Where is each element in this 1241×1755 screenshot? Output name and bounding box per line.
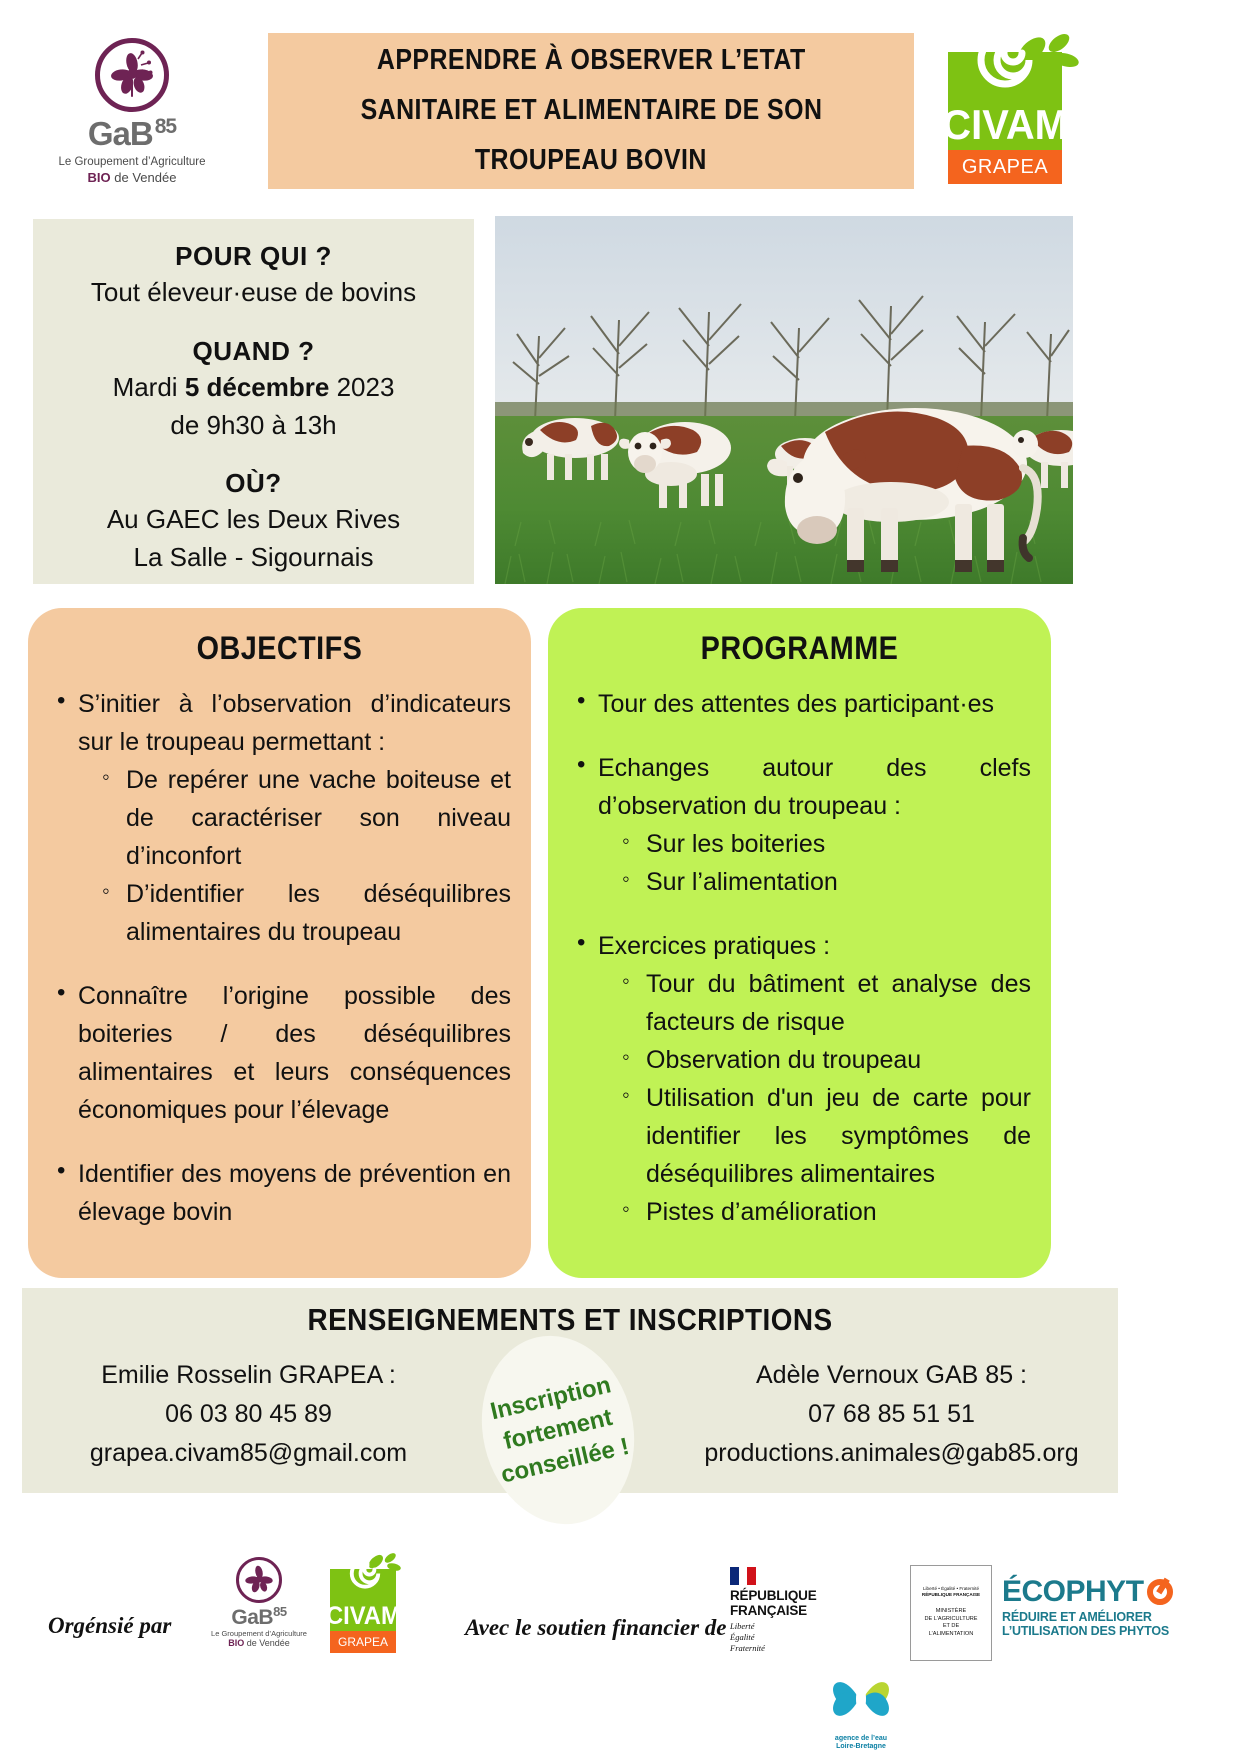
ecophyto-top: ÉCOPHYT <box>1002 1577 1182 1607</box>
ou-line-2: La Salle - Sigournais <box>51 541 456 575</box>
ou-line-1: Au GAEC les Deux Rives <box>51 503 456 537</box>
quand-time: de 9h30 à 13h <box>51 409 456 443</box>
agence-eau-line-1: agence de l’eau <box>825 1735 897 1743</box>
gab-number-footer: 85 <box>273 1604 286 1619</box>
programme-item-3: Exercices pratiques : Tour du bâtiment e… <box>568 927 1031 1231</box>
objectif-item-2: Connaître l’origine possible des boiteri… <box>48 977 511 1129</box>
gab-vendee-text: de Vendée <box>111 170 177 185</box>
gab-flower-icon-footer <box>236 1557 282 1603</box>
objectif-sublist-1: De repérer une vache boiteuse et de cara… <box>78 761 511 951</box>
programme-item-2: Echanges autour des clefs d’observation … <box>568 749 1031 901</box>
ministere-body: MINISTÈRE DE L’AGRICULTURE ET DE L’ALIME… <box>914 1608 988 1638</box>
poster-header: GaB85 Le Groupement d’Agriculture BIO de… <box>0 0 1241 205</box>
agence-eau-butterfly-icon <box>825 1667 897 1731</box>
quand-date: Mardi 5 décembre 2023 <box>51 371 456 405</box>
programme-title: PROGRAMME <box>591 630 1008 667</box>
organized-by-label: Orgénsié par <box>48 1613 171 1639</box>
objectif-item-1: S’initier à l’observation d’indicateurs … <box>48 685 511 951</box>
gab-vendee-footer: de Vendée <box>244 1638 290 1648</box>
pour-qui-label: POUR QUI ? <box>51 241 456 272</box>
grapea-wordmark-footer: GRAPEA <box>338 1635 388 1649</box>
objectifs-title: OBJECTIFS <box>71 630 488 667</box>
event-info-box: POUR QUI ? Tout éleveur·euse de bovins Q… <box>33 219 474 584</box>
contact-left-email[interactable]: grapea.civam85@gmail.com <box>22 1434 475 1473</box>
gab-subtitle-2: BIO de Vendée <box>47 170 217 186</box>
objectif-text-1: S’initier à l’observation d’indicateurs … <box>78 690 511 756</box>
cattle-photo <box>495 216 1073 584</box>
gab-bio-text: BIO <box>88 170 111 185</box>
quand-date-bold: 5 décembre <box>185 372 330 402</box>
ministere-rf-name: RÉPUBLIQUE FRANÇAISE <box>914 1592 988 1598</box>
contact-right-phone[interactable]: 07 68 85 51 51 <box>665 1395 1118 1434</box>
programme-subitem-2-2: Sur l’alimentation <box>616 863 1031 901</box>
civam-green-block-footer: CIVAM <box>330 1569 396 1631</box>
programme-subitem-3-4: Pistes d’amélioration <box>616 1193 1031 1231</box>
contact-right-name: Adèle Vernoux GAB 85 : <box>665 1356 1118 1395</box>
gab-subtitle-2-footer: BIO de Vendée <box>200 1638 318 1649</box>
gab-bio-footer: BIO <box>228 1638 244 1648</box>
objectifs-list: S’initier à l’observation d’indicateurs … <box>48 685 511 1231</box>
quand-prefix: Mardi <box>113 372 185 402</box>
quand-label: QUAND ? <box>51 336 456 367</box>
civam-wordmark-footer: CIVAM <box>326 1604 401 1629</box>
programme-text-2: Echanges autour des clefs d’observation … <box>598 754 1031 820</box>
gab-subtitle-1-footer: Le Groupement d’Agriculture <box>200 1629 318 1638</box>
programme-subitem-3-2: Observation du troupeau <box>616 1041 1031 1079</box>
quand-year: 2023 <box>329 372 394 402</box>
contact-right: Adèle Vernoux GAB 85 : 07 68 85 51 51 pr… <box>665 1356 1118 1472</box>
ministere-rf-motto: Liberté • Égalité • Fraternité <box>914 1586 988 1592</box>
poster-page: GaB85 Le Groupement d’Agriculture BIO de… <box>0 0 1241 1755</box>
programme-sublist-2: Sur les boiteries Sur l’alimentation <box>598 825 1031 901</box>
agence-eau-line-2: Loire-Bretagne <box>825 1743 897 1751</box>
rf-line-2: FRANÇAISE <box>730 1603 822 1618</box>
info-spacer-1 <box>51 310 456 336</box>
civam-spiral-icon <box>975 32 1035 90</box>
objectif-subitem-1-1: De repérer une vache boiteuse et de cara… <box>96 761 511 875</box>
programme-text-3: Exercices pratiques : <box>598 932 830 960</box>
gab-wordmark-footer: GaB85 <box>200 1605 318 1629</box>
contact-right-email[interactable]: productions.animales@gab85.org <box>665 1434 1118 1473</box>
programme-panel: PROGRAMME Tour des attentes des particip… <box>548 608 1051 1278</box>
poster-title-band: APPRENDRE À OBSERVER L’ETAT SANITAIRE ET… <box>268 33 914 189</box>
programme-list: Tour des attentes des participant·es Ech… <box>568 685 1031 1231</box>
civam-spiral-icon-footer <box>348 1558 382 1590</box>
poster-title-line-3: TROUPEAU BOVIN <box>475 136 707 186</box>
agence-eau-loire-bretagne-logo: agence de l’eau Loire-Bretagne <box>825 1667 897 1755</box>
contact-left-phone[interactable]: 06 03 80 45 89 <box>22 1395 475 1434</box>
civam-grapea-logo-footer: CIVAM GRAPEA <box>330 1557 408 1657</box>
flower-glyph-footer <box>242 1563 276 1597</box>
gab-word-text-footer: GaB <box>231 1606 273 1629</box>
programme-subitem-2-1: Sur les boiteries <box>616 825 1031 863</box>
poster-title-line-1: APPRENDRE À OBSERVER L’ETAT <box>377 36 806 86</box>
ecophyto-line-2: L’UTILISATION DES PHYTOS <box>1002 1624 1182 1638</box>
poster-title-line-2: SANITAIRE ET ALIMENTAIRE DE SON <box>360 86 822 136</box>
pour-qui-value: Tout éleveur·euse de bovins <box>51 276 456 310</box>
gab85-logo-header: GaB85 Le Groupement d’Agriculture BIO de… <box>47 38 217 186</box>
civam-grapea-logo-header: CIVAM GRAPEA <box>948 30 1088 180</box>
objectif-item-3: Identifier des moyens de prévention en é… <box>48 1155 511 1231</box>
agence-eau-label: agence de l’eau Loire-Bretagne <box>825 1735 897 1751</box>
programme-subitem-3-1: Tour du bâtiment et analyse des facteurs… <box>616 965 1031 1041</box>
ou-label: OÙ? <box>51 468 456 499</box>
flower-glyph <box>106 49 158 101</box>
grapea-wordmark: GRAPEA <box>962 156 1048 179</box>
gab-word-text: GaB <box>88 115 153 152</box>
rf-line-1: RÉPUBLIQUE <box>730 1588 822 1603</box>
french-flag-icon-ministere <box>940 1570 962 1585</box>
gab-subtitle-1: Le Groupement d’Agriculture <box>47 155 217 169</box>
objectif-subitem-1-2: D’identifier les déséquilibres alimentai… <box>96 875 511 951</box>
gab-number: 85 <box>155 115 176 138</box>
civam-orange-block: GRAPEA <box>948 150 1062 184</box>
contact-title: RENSEIGNEMENTS ET INSCRIPTIONS <box>77 1302 1063 1338</box>
poster-footer: Orgénsié par GaB85 Le Groupement d’Agric… <box>0 1495 1241 1755</box>
ministere-agriculture-logo: Liberté • Égalité • Fraternité RÉPUBLIQU… <box>910 1565 992 1661</box>
contact-left-name: Emilie Rosselin GRAPEA : <box>22 1356 475 1395</box>
gab-flower-icon <box>95 38 169 112</box>
info-spacer-2 <box>51 442 456 468</box>
gab85-logo-footer: GaB85 Le Groupement d’Agriculture BIO de… <box>200 1557 318 1649</box>
supported-by-label: Avec le soutien financier de <box>465 1615 726 1641</box>
contact-left: Emilie Rosselin GRAPEA : 06 03 80 45 89 … <box>22 1356 475 1472</box>
rf-motto: Liberté Égalité Fraternité <box>730 1621 822 1654</box>
ecophyto-line-1: RÉDUIRE ET AMÉLIORER <box>1002 1610 1182 1624</box>
objectifs-panel: OBJECTIFS S’initier à l’observation d’in… <box>28 608 531 1278</box>
gab-wordmark: GaB85 <box>47 116 217 150</box>
ecophyto-leaf-o-icon <box>1147 1579 1173 1605</box>
programme-item-1: Tour des attentes des participant·es <box>568 685 1031 723</box>
civam-orange-block-footer: GRAPEA <box>330 1631 396 1653</box>
republique-francaise-logo: RÉPUBLIQUE FRANÇAISE Liberté Égalité Fra… <box>730 1567 822 1654</box>
ecophyto-logo: ÉCOPHYT RÉDUIRE ET AMÉLIORER L’UTILISATI… <box>1002 1577 1182 1638</box>
programme-subitem-3-3: Utilisation d'un jeu de carte pour ident… <box>616 1079 1031 1193</box>
cattle-photo-illustration <box>495 216 1073 584</box>
french-flag-icon <box>730 1567 756 1585</box>
ecophyto-wordmark: ÉCOPHYT <box>1002 1577 1144 1607</box>
civam-green-block: CIVAM <box>948 52 1062 150</box>
civam-wordmark: CIVAM <box>942 104 1068 146</box>
programme-sublist-3: Tour du bâtiment et analyse des facteurs… <box>598 965 1031 1231</box>
